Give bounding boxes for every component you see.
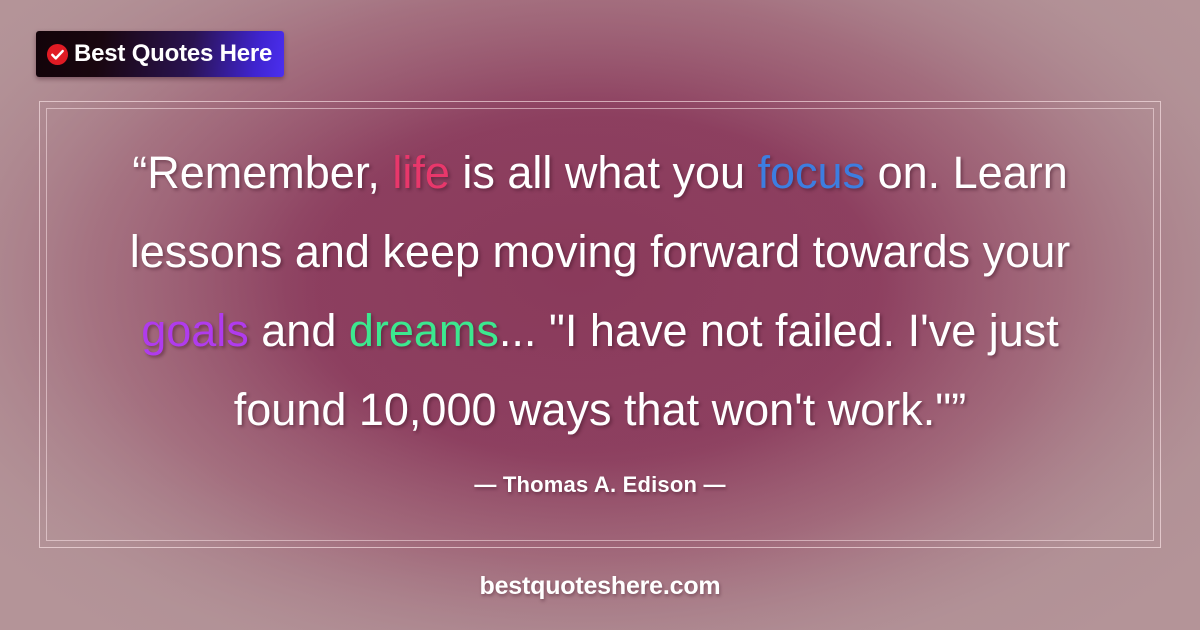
quote-line: found 10,000 ways that won't work."” xyxy=(70,370,1130,449)
quote-segment: is all what you xyxy=(450,147,758,198)
quote-highlight-life: life xyxy=(392,147,450,198)
quote-segment: “Remember, xyxy=(132,147,392,198)
quote-highlight-goals: goals xyxy=(141,305,249,356)
quote-segment: ... "I have not failed. I've just xyxy=(499,305,1059,356)
brand-badge-label: Best Quotes Here xyxy=(74,42,272,66)
check-circle-icon xyxy=(46,43,69,66)
quote-text-block: “Remember, life is all what you focus on… xyxy=(70,133,1130,449)
quote-poster: Best Quotes Here “Remember, life is all … xyxy=(0,0,1200,630)
quote-segment: and xyxy=(249,305,349,356)
quote-segment: found 10,000 ways that won't work."” xyxy=(234,384,966,435)
quote-line: lessons and keep moving forward towards … xyxy=(70,212,1130,291)
brand-badge[interactable]: Best Quotes Here xyxy=(36,31,284,77)
quote-segment: lessons and keep moving forward towards … xyxy=(130,226,1070,277)
quote-highlight-focus: focus xyxy=(758,147,866,198)
quote-highlight-dreams: dreams xyxy=(349,305,499,356)
quote-line: “Remember, life is all what you focus on… xyxy=(70,133,1130,212)
quote-line: goals and dreams... "I have not failed. … xyxy=(70,291,1130,370)
quote-segment: on. Learn xyxy=(865,147,1068,198)
quote-attribution: — Thomas A. Edison — xyxy=(0,472,1200,498)
site-url[interactable]: bestquoteshere.com xyxy=(0,572,1200,601)
